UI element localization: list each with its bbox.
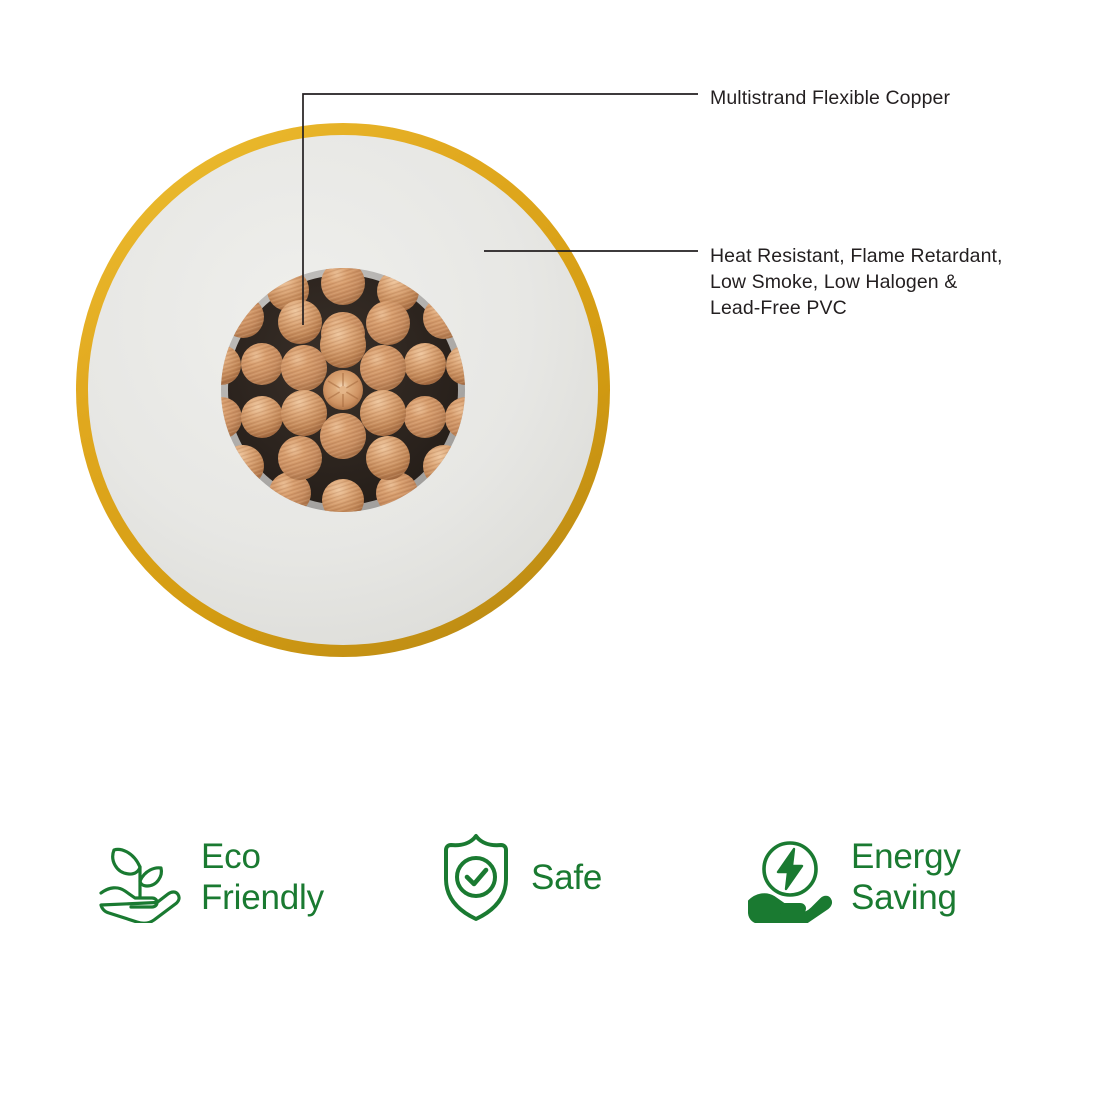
feature-label-energy-saving: Energy Saving xyxy=(851,836,961,918)
feature-safe: Safe xyxy=(435,831,745,923)
shield-check-icon xyxy=(435,831,517,923)
hand-holding-lightning-icon xyxy=(745,831,837,923)
cable-cross-section-diagram xyxy=(0,0,1100,760)
callout-label-multistrand-copper: Multistrand Flexible Copper xyxy=(710,85,950,111)
feature-eco-friendly: Eco Friendly xyxy=(95,831,435,923)
feature-badges-strip: Eco Friendly Safe Energy Saving xyxy=(95,812,1035,942)
callout-label-pvc-properties: Heat Resistant, Flame Retardant, Low Smo… xyxy=(710,243,1003,321)
feature-label-eco-friendly: Eco Friendly xyxy=(201,836,324,918)
hand-holding-plant-icon xyxy=(95,831,187,923)
feature-label-safe: Safe xyxy=(531,857,602,898)
copper-strand-center xyxy=(323,370,363,410)
feature-energy-saving: Energy Saving xyxy=(745,831,1035,923)
